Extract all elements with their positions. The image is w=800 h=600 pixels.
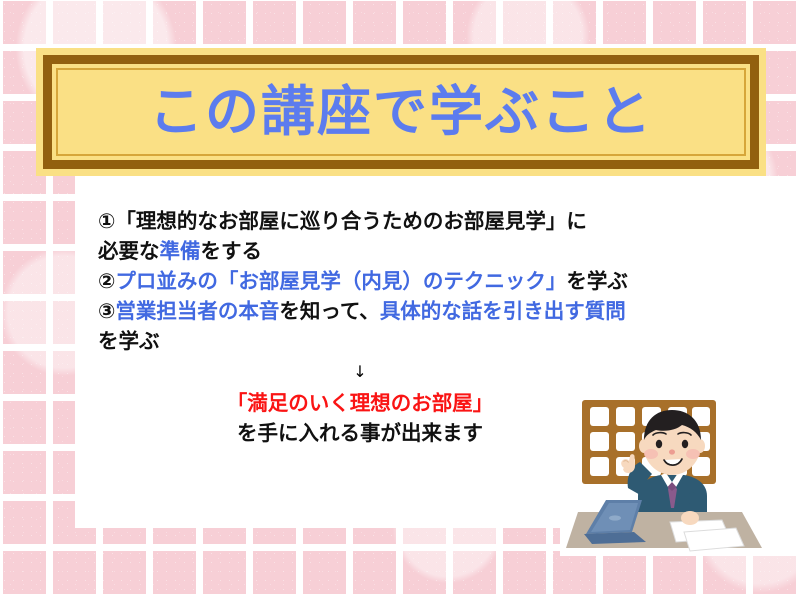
conclusion-tail: を手に入れる事が出来ます [237,421,483,445]
conclusion-highlight: 「満足のいく理想のお部屋」 [227,391,494,415]
list-text-1a: 「理想的なお部屋に巡り合うためのお部屋見学」に [115,209,587,233]
list-text-2a: 必要な [98,239,160,263]
list-marker-2: ② [98,269,115,293]
list-text-4a-highlight: 営業担当者の本音 [115,299,279,323]
list-text-4c-highlight: 具体的な話を引き出す質問 [380,299,626,323]
list-item: 必要な準備をする [98,236,718,266]
list-text-2c: をする [201,239,263,263]
real-estate-agent-illustration [566,396,794,556]
down-arrow-icon: ↓ [353,362,366,381]
learning-points-list: ①「理想的なお部屋に巡り合うためのお部屋見学」に 必要な準備をする ②プロ並みの… [98,206,718,356]
list-item: ②プロ並みの「お部屋見学（内見）のテクニック」を学ぶ [98,266,718,296]
list-text-3b: を学ぶ [566,269,628,293]
list-marker-1: ① [98,209,115,233]
list-text-2b-highlight: 準備 [160,239,201,263]
list-text-3a-highlight: プロ並みの「お部屋見学（内見）のテクニック」 [115,269,566,293]
list-marker-3: ③ [98,299,115,323]
title-banner: この講座で学ぶこと [36,48,766,176]
list-text-5a: を学ぶ [98,329,160,353]
slide-canvas: この講座で学ぶこと ①「理想的なお部屋に巡り合うためのお部屋見学」に 必要な準備… [0,0,800,600]
list-text-4b: を知って、 [279,299,379,323]
list-item: ①「理想的なお部屋に巡り合うためのお部屋見学」に [98,206,718,236]
conclusion-highlight-line: 「満足のいく理想のお部屋」 [150,388,570,418]
conclusion-tail-line: を手に入れる事が出来ます [150,418,570,448]
down-arrow-container: ↓ [150,362,570,381]
banner-outer-frame: この講座で学ぶこと [43,55,759,169]
page-title: この講座で学ぶこと [149,85,653,139]
hand-icon [681,511,699,525]
banner-inner-frame: この講座で学ぶこと [56,68,746,156]
list-item: を学ぶ [98,326,718,356]
list-item: ③営業担当者の本音を知って、具体的な話を引き出す質問 [98,296,718,326]
conclusion-block: 「満足のいく理想のお部屋」 を手に入れる事が出来ます [150,388,570,448]
